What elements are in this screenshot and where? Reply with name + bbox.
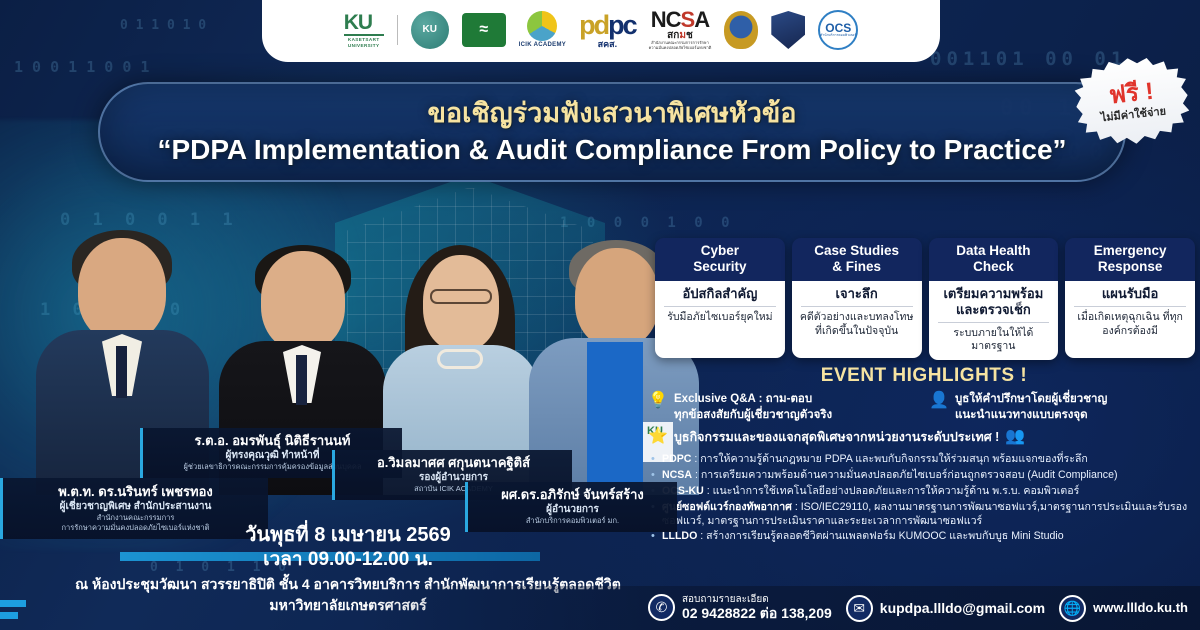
ku-logo-subtitle: KASETSARTUNIVERSITY	[344, 37, 384, 48]
ocs-fine-print: สำนักบริการคอมพิวเตอร์	[820, 34, 856, 38]
bullet-text-3: : แนะนำการใช้เทคโนโลยีอย่างปลอดภัยและการ…	[704, 485, 1080, 497]
ncsa-wordmark: NCSA	[651, 9, 709, 31]
highlight-booth-line-1: บูธให้คำปรึกษาโดยผู้เชี่ยวชาญ	[955, 392, 1107, 408]
topic-card-emergency-response: Emergency Response แผนรับมือ เมื่อเกิดเห…	[1065, 238, 1195, 358]
bullet-org-4: ศูนย์ซอฟต์แวร์กองทัพอากาศ	[662, 501, 792, 513]
speaker-role-4: ผู้อำนวยการ	[474, 503, 671, 516]
topic-card-title-1a: Cyber	[658, 243, 782, 259]
speaker-role-1: ผู้เชี่ยวชาญพิเศษ สำนักประสานงาน	[9, 500, 262, 513]
topic-card-title-2a: Case Studies	[795, 243, 919, 259]
logo-divider	[397, 15, 398, 45]
icik-academy-logo: ICIK ACADEMY	[519, 11, 566, 49]
topic-card-sub-3: เตรียมความพร้อม และตรวจเช็ก	[934, 286, 1054, 321]
contact-email-value: kupdpa.llldo@gmail.com	[880, 600, 1045, 617]
title-thai: ขอเชิญร่วมฟังเสวนาพิเศษหัวข้อ	[427, 98, 796, 129]
topic-card-body-3: เตรียมความพร้อม และตรวจเช็ก ระบบภายในให้…	[929, 281, 1059, 359]
topic-card-cyber-security: Cyber Security อัปสกิลสำคัญ รับมือภัยไซเ…	[655, 238, 785, 358]
star-icon: ⭐	[648, 428, 668, 446]
topic-card-title-3a: Data Health	[932, 243, 1056, 259]
icik-academy-label: ICIK ACADEMY	[519, 42, 566, 49]
title-banner: ขอเชิญร่วมฟังเสวนาพิเศษหัวข้อ “PDPA Impl…	[98, 82, 1126, 182]
bullet-org-2: NCSA	[662, 469, 692, 481]
list-item: LLLDO : สร้างการเรียนรู้ตลอดชีวิตผ่านแพล…	[648, 530, 1200, 544]
bullet-text-5: : สร้างการเรียนรู้ตลอดชีวิตผ่านแพลตฟอร์ม…	[697, 530, 1063, 542]
topic-card-rule-3	[938, 322, 1050, 323]
contact-phone[interactable]: ✆ สอบถามรายละเอียด 02 9428822 ต่อ 138,20…	[648, 594, 832, 622]
contact-phone-label: สอบถามรายละเอียด	[682, 594, 832, 606]
phone-icon: ✆	[648, 594, 675, 621]
topic-card-sub-1: อัปสกิลสำคัญ	[660, 286, 780, 306]
pdpc-logo: pdpc สคส.	[579, 12, 636, 49]
topic-card-rule-1	[664, 306, 776, 307]
ku-logo-mark: KU	[344, 12, 384, 33]
list-item: PDPC : การให้ความรู้ด้านกฎหมาย PDPA และพ…	[648, 453, 1200, 467]
icik-ball-icon	[527, 11, 557, 41]
people-group-icon: 👥	[1005, 428, 1025, 446]
speaker-name-3: อ.วิมลมาศศ ศกุนตนาคฐิติส์	[341, 455, 566, 471]
topic-card-row: Cyber Security อัปสกิลสำคัญ รับมือภัยไซเ…	[655, 238, 1195, 358]
highlight-qa-line-2: ทุกข้อสงสัยกับผู้เชี่ยวชาญตัวจริง	[674, 408, 832, 424]
footer-accent-bars	[0, 600, 26, 624]
globe-icon: 🌐	[1059, 595, 1086, 622]
ocs-ku-logo: OCS สำนักบริการคอมพิวเตอร์	[818, 10, 858, 50]
highlight-booth-consult: 👤 บูธให้คำปรึกษาโดยผู้เชี่ยวชาญ แนะนำแนว…	[929, 392, 1200, 423]
speaker-name-1: พ.ต.ท. ดร.นรินทร์ เพชรทอง	[9, 484, 262, 500]
bullet-org-1: PDPC	[662, 453, 691, 465]
ncsa-logo: NCSA สกมช สำนักงานคณะกรรมการการรักษาความ…	[649, 9, 712, 51]
green-cybersecurity-logo: ≈	[462, 13, 506, 47]
topic-card-rule-2	[801, 306, 913, 307]
topic-card-title-1b: Security	[658, 259, 782, 275]
list-item: OCS-KU : แนะนำการใช้เทคโนโลยีอย่างปลอดภั…	[648, 485, 1200, 499]
contact-footer: ✆ สอบถามรายละเอียด 02 9428822 ต่อ 138,20…	[0, 586, 1200, 630]
topic-card-body-1: อัปสกิลสำคัญ รับมือภัยไซเบอร์ยุคใหม่	[655, 281, 785, 358]
topic-card-sub-4: แผนรับมือ	[1070, 286, 1190, 306]
royal-thai-air-force-crest-logo	[724, 11, 758, 49]
ku-kasetsart-university-logo: KU KASETSARTUNIVERSITY	[344, 12, 384, 48]
contact-email[interactable]: ✉ kupdpa.llldo@gmail.com	[846, 595, 1045, 622]
title-english: “PDPA Implementation & Audit Compliance …	[157, 133, 1066, 167]
topic-card-data-health-check: Data Health Check เตรียมความพร้อม และตรว…	[929, 238, 1059, 358]
speaker-name-2: ร.ต.อ. อมรพันธุ์ นิติธีรานนท์	[149, 433, 396, 449]
bullet-org-5: LLLDO	[662, 530, 697, 542]
pdpc-thai-label: สคส.	[598, 40, 618, 49]
highlight-booth-line-2: แนะนำแนวทางแบบตรงจุด	[955, 408, 1107, 424]
lifelong-learning-swirl-logo: KU	[411, 11, 449, 49]
partner-logo-bar: KU KASETSARTUNIVERSITY KU ≈ ICIK ACADEMY…	[262, 0, 940, 62]
topic-card-body-2: เจาะลึก คดีตัวอย่างและบทลงโทษ ที่เกิดขึ้…	[792, 281, 922, 358]
bullet-text-1: : การให้ความรู้ด้านกฎหมาย PDPA และพบกับก…	[691, 453, 1087, 465]
lightbulb-icon: 💡	[648, 392, 668, 410]
event-date: วันพุธที่ 8 เมษายน 2569	[44, 523, 652, 548]
topic-card-sub-2: เจาะลึก	[797, 286, 917, 306]
topic-card-title-4b: Response	[1068, 259, 1192, 275]
topic-card-header-1: Cyber Security	[655, 238, 785, 281]
event-time: เวลา 09.00-12.00 น.	[44, 548, 652, 573]
speaker-name-4: ผศ.ดร.อภิรักษ์ จันทร์สร้าง	[474, 487, 671, 503]
navy-shield-crest-logo	[771, 11, 805, 49]
topic-card-title-4a: Emergency	[1068, 243, 1192, 259]
ncsa-fine-print: สำนักงานคณะกรรมการการรักษาความมั่นคงปลอด…	[649, 41, 712, 51]
person-icon: 👤	[929, 392, 949, 410]
highlight-booth-activities: ⭐ บูธกิจกรรมและของแจกสุดพิเศษจากหน่วยงาน…	[648, 428, 1200, 446]
topic-card-header-4: Emergency Response	[1065, 238, 1195, 281]
event-highlights-title: EVENT HIGHLIGHTS !	[648, 366, 1200, 385]
partner-activity-list: PDPC : การให้ความรู้ด้านกฎหมาย PDPA และพ…	[648, 453, 1200, 545]
topic-card-header-3: Data Health Check	[929, 238, 1059, 281]
ku-logo-rule	[344, 34, 384, 36]
highlight-star-text: บูธกิจกรรมและของแจกสุดพิเศษจากหน่วยงานระ…	[674, 429, 999, 445]
event-poster: 1 0 0 1 1 0 0 1 0 1 1 0 1 0 001101 00 01…	[0, 0, 1200, 630]
highlight-row-top: 💡 Exclusive Q&A : ถาม-ตอบ ทุกข้อสงสัยกับ…	[648, 392, 1200, 423]
topic-card-desc-1: รับมือภัยไซเบอร์ยุคใหม่	[660, 311, 780, 325]
topic-card-title-2b: & Fines	[795, 259, 919, 275]
contact-phone-value: 02 9428822 ต่อ 138,209	[682, 605, 832, 622]
highlight-qa-line-1: Exclusive Q&A : ถาม-ตอบ	[674, 392, 832, 408]
topic-card-rule-4	[1074, 306, 1186, 307]
topic-card-body-4: แผนรับมือ เมื่อเกิดเหตุฉุกเฉิน ที่ทุกองค…	[1065, 281, 1195, 358]
list-item: NCSA : การเตรียมความพร้อมด้านความมั่นคงป…	[648, 469, 1200, 483]
topic-card-header-2: Case Studies & Fines	[792, 238, 922, 281]
contact-website-value: www.llldo.ku.th	[1093, 600, 1188, 616]
topic-card-title-3b: Check	[932, 259, 1056, 275]
event-highlights-section: EVENT HIGHLIGHTS ! 💡 Exclusive Q&A : ถาม…	[648, 366, 1200, 546]
contact-website[interactable]: 🌐 www.llldo.ku.th	[1059, 595, 1188, 622]
envelope-icon: ✉	[846, 595, 873, 622]
highlight-qa: 💡 Exclusive Q&A : ถาม-ตอบ ทุกข้อสงสัยกับ…	[648, 392, 919, 423]
topic-card-case-studies-fines: Case Studies & Fines เจาะลึก คดีตัวอย่าง…	[792, 238, 922, 358]
topic-card-desc-2: คดีตัวอย่างและบทลงโทษ ที่เกิดขึ้นในปัจจุ…	[797, 311, 917, 338]
pdpc-wordmark: pdpc	[579, 12, 636, 39]
topic-card-desc-3: ระบบภายในให้ได้ มาตรฐาน	[934, 327, 1054, 354]
bullet-text-2: : การเตรียมความพร้อมด้านความมั่นคงปลอดภั…	[692, 469, 1118, 481]
list-item: ศูนย์ซอฟต์แวร์กองทัพอากาศ : ISO/IEC29110…	[648, 501, 1200, 529]
free-badge-headline: ฟรี !	[1108, 79, 1155, 108]
topic-card-desc-4: เมื่อเกิดเหตุฉุกเฉิน ที่ทุกองค์กรต้องมี	[1070, 311, 1190, 338]
